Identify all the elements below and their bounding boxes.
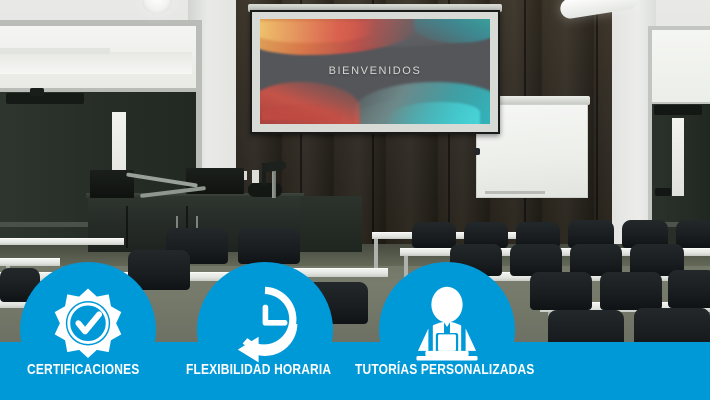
student-table [0, 258, 60, 266]
camera-device [248, 183, 282, 197]
chair [676, 220, 710, 248]
student-table [0, 238, 124, 245]
transom-window-left [0, 26, 196, 88]
door-handle-right [655, 188, 671, 196]
presentation-slide: BIENVENIDOS [260, 19, 490, 124]
transom-ceiling-left [0, 52, 192, 74]
slide-wave-red-accent [262, 104, 342, 120]
door-closer-right [654, 105, 702, 115]
chair [530, 272, 592, 310]
door-window-right [672, 118, 684, 196]
chair [412, 222, 456, 248]
feature-label-tutorias: TUTORÍAS PERSONALIZADAS [355, 361, 534, 378]
whiteboard-knob [474, 148, 480, 155]
chair [600, 272, 662, 310]
wood-panel-seam [596, 0, 598, 246]
equipment-pole [272, 168, 276, 198]
feature-label-certificaciones: CERTIFICACIONES [27, 361, 139, 378]
door-closer-left [6, 93, 84, 104]
chair [238, 228, 300, 264]
side-desk [300, 196, 362, 252]
promo-banner: BIENVENIDOS [0, 0, 710, 400]
chair [668, 270, 710, 308]
feature-label-flexibilidad: FLEXIBILIDAD HORARIA [186, 361, 331, 378]
transom-window-right [652, 30, 710, 102]
slide-title: BIENVENIDOS [260, 64, 490, 76]
wall-plate [252, 170, 259, 183]
projection-screen: BIENVENIDOS [250, 10, 500, 134]
table-leg [374, 239, 378, 269]
lectern-seam [126, 206, 128, 248]
projection-screen-border: BIENVENIDOS [252, 12, 498, 132]
